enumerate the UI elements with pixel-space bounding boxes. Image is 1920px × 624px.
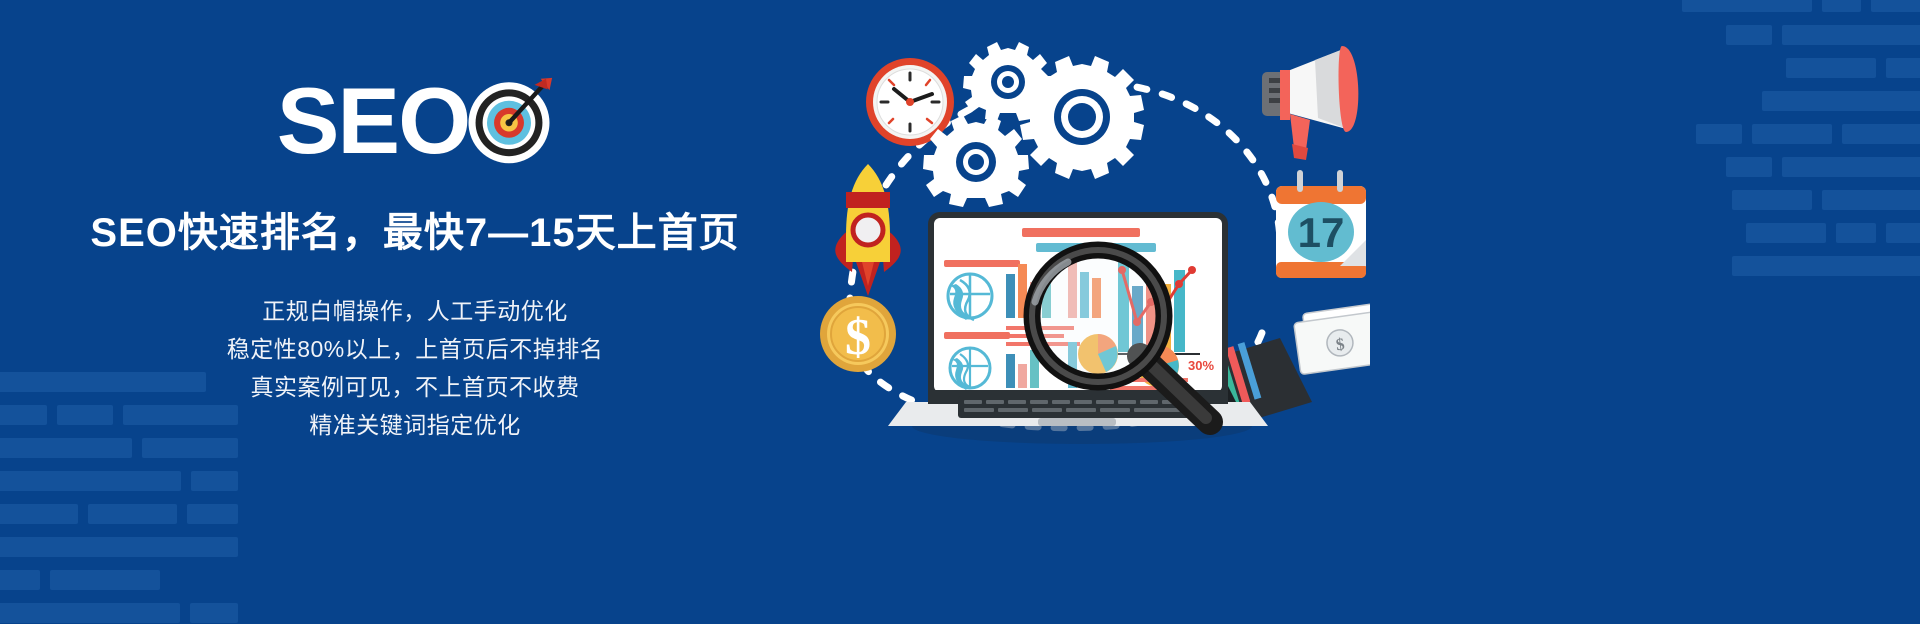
page-title: SEO快速排名，最快7—15天上首页	[90, 200, 739, 258]
megaphone-icon	[1262, 46, 1358, 160]
seo-logo-letters: SEO	[277, 81, 470, 161]
code-bar	[1782, 157, 1920, 177]
sub-line-2: 稳定性80%以上，上首页后不掉排名	[227, 330, 604, 368]
code-bar	[1822, 190, 1920, 210]
seo-banner: SEO SEO快速排名，最快7—15天上首页 正规白帽操作，人工手动优化 稳定	[0, 0, 1920, 624]
code-bar	[1752, 124, 1832, 144]
code-bar	[1726, 25, 1772, 45]
code-bar-row	[1682, 0, 1920, 12]
svg-text:$: $	[845, 309, 871, 366]
code-bar	[1842, 124, 1920, 144]
seo-illustration: $	[810, 34, 1370, 454]
gears-icon	[923, 42, 1144, 207]
code-bar	[1886, 223, 1920, 243]
bullseye-target-icon	[465, 77, 553, 165]
sub-line-1: 正规白帽操作，人工手动优化	[262, 292, 568, 330]
code-bar-row	[1682, 58, 1920, 78]
text-column: SEO SEO快速排名，最快7—15天上首页 正规白帽操作，人工手动优化 稳定	[0, 0, 830, 624]
code-bar-row	[1682, 25, 1920, 45]
sub-line-4: 精准关键词指定优化	[309, 406, 521, 444]
calendar-icon: 17	[1276, 170, 1366, 278]
code-bar	[1782, 25, 1920, 45]
code-bar	[1822, 0, 1862, 12]
code-bar	[1786, 58, 1876, 78]
code-bar-row	[1682, 190, 1920, 210]
dollar-coin-icon: $	[820, 296, 896, 372]
calendar-day-label: 17	[1298, 209, 1345, 256]
seo-logo: SEO	[277, 78, 554, 164]
code-bar-row	[1682, 256, 1920, 276]
code-bar	[1762, 91, 1920, 111]
code-bar	[1682, 0, 1812, 12]
code-bar	[1836, 223, 1876, 243]
code-bar	[1732, 190, 1812, 210]
code-bar	[1871, 0, 1920, 12]
code-bar	[1726, 157, 1772, 177]
code-bar-row	[1682, 124, 1920, 144]
code-bar	[1696, 124, 1742, 144]
code-bar-row	[1682, 223, 1920, 243]
code-bar	[1746, 223, 1826, 243]
code-bar	[1732, 256, 1920, 276]
code-bar	[1886, 58, 1920, 78]
pie-percent-label: 30%	[1188, 358, 1214, 373]
code-bar-row	[1682, 157, 1920, 177]
decorative-code-bars-right	[1682, 0, 1920, 289]
sub-line-3: 真实案例可见，不上首页不收费	[251, 368, 580, 406]
code-bar-row	[1682, 91, 1920, 111]
